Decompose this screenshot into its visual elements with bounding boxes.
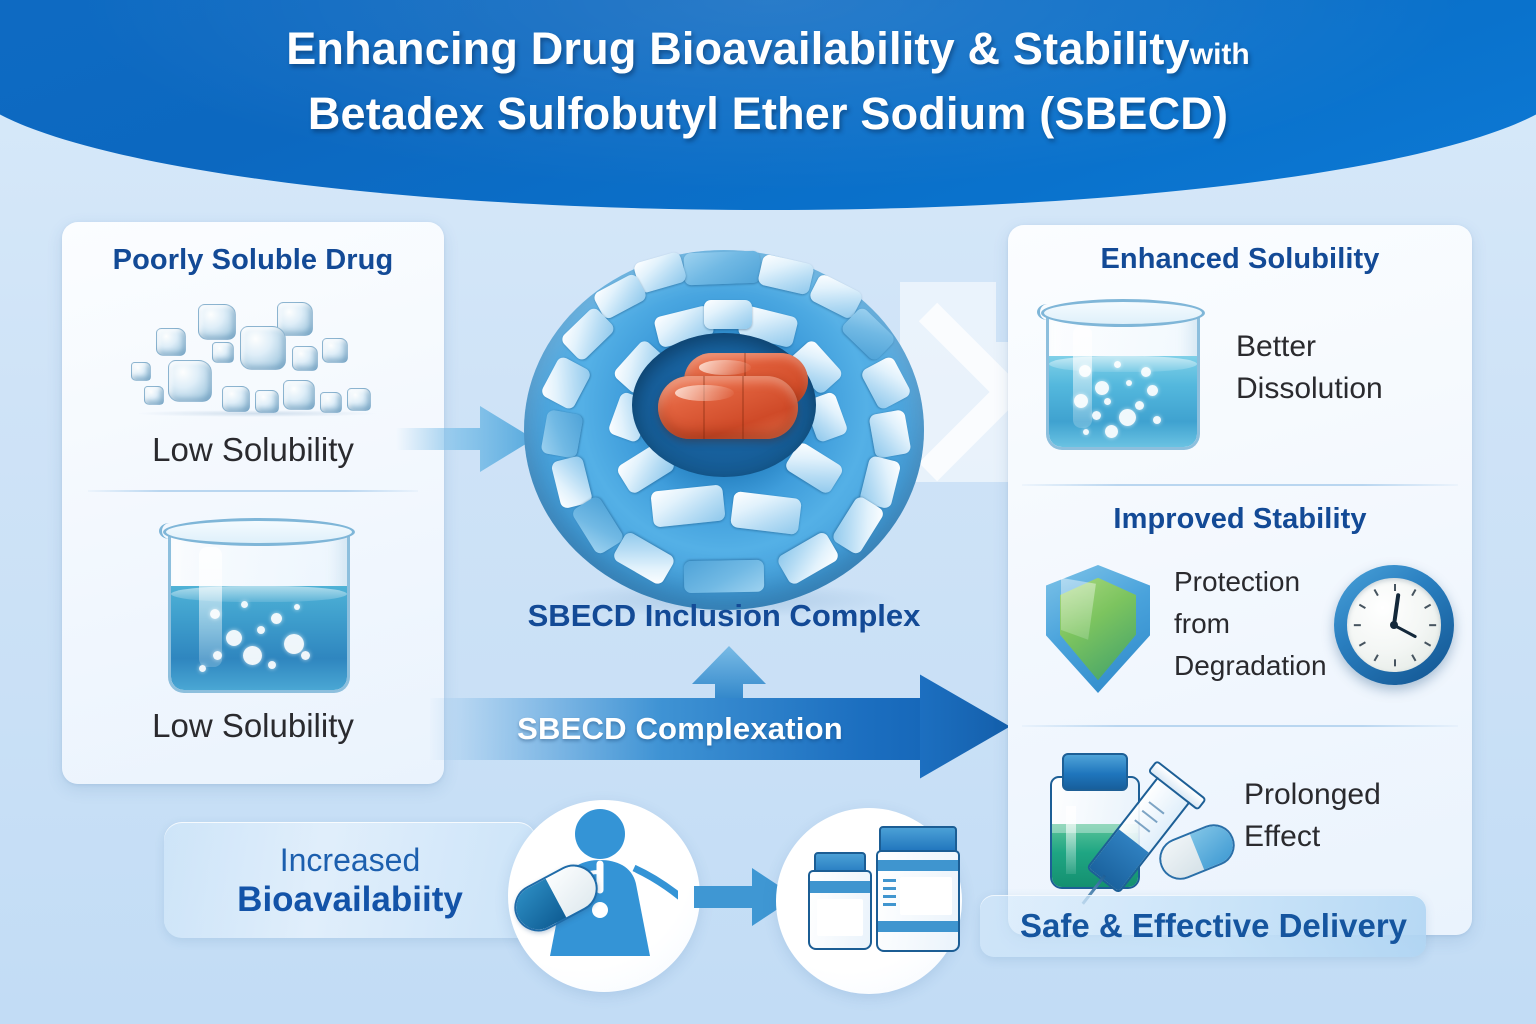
title-line1-main: Enhancing Drug Bioavailability & Stabili… bbox=[286, 23, 1190, 74]
small-vial-icon bbox=[808, 852, 868, 950]
left-to-center-arrow-icon bbox=[396, 396, 536, 482]
complex-label: SBECD Inclusion Complex bbox=[524, 598, 924, 634]
right-section2-title: Improved Stability bbox=[1008, 503, 1472, 536]
large-vial-icon bbox=[876, 826, 956, 952]
low-solubility-beaker-icon bbox=[168, 518, 344, 690]
prolonged-effect-caption-line2: Effect bbox=[1244, 819, 1320, 856]
right-divider-2 bbox=[1022, 725, 1458, 727]
title-line2: Betadex Sulfobutyl Ether Sodium (SBECD) bbox=[0, 87, 1536, 142]
delivery-label: Safe & Effective Delivery bbox=[980, 907, 1407, 945]
bioavailability-line1: Increased bbox=[164, 842, 536, 879]
page-title: Enhancing Drug Bioavailability & Stabili… bbox=[0, 22, 1536, 142]
safe-effective-delivery-banner: Safe & Effective Delivery bbox=[980, 895, 1426, 957]
left-panel-title: Poorly Soluble Drug bbox=[62, 244, 444, 277]
right-section1-title: Enhanced Solubility bbox=[1008, 243, 1472, 276]
capsule-front bbox=[658, 376, 798, 439]
title-line1-small: with bbox=[1190, 38, 1250, 71]
infographic-canvas: Enhancing Drug Bioavailability & Stabili… bbox=[0, 0, 1536, 1024]
shield-icon bbox=[1046, 565, 1150, 693]
enhanced-solubility-beaker-icon bbox=[1046, 299, 1194, 447]
increased-bioavailability-band: Increased Bioavailabiity bbox=[164, 822, 536, 938]
left-beaker-caption: Low Solubility bbox=[62, 706, 444, 746]
left-crystals-caption: Low Solubility bbox=[62, 430, 444, 470]
sbecd-inclusion-complex-icon bbox=[524, 250, 924, 610]
left-panel-divider bbox=[88, 490, 418, 492]
bioavailability-line2: Bioavailabiity bbox=[164, 880, 536, 920]
left-panel-card: Poorly Soluble Drug Low Solubility bbox=[62, 222, 444, 784]
drug-crystals-icon bbox=[94, 300, 412, 420]
better-dissolution-caption-line2: Dissolution bbox=[1236, 371, 1383, 408]
better-dissolution-caption-line1: Better bbox=[1236, 329, 1316, 366]
protection-caption-line2: from bbox=[1174, 607, 1230, 641]
protection-caption-line3: Degradation bbox=[1174, 649, 1327, 683]
right-panel-card: Enhanced Solubility bbox=[1008, 225, 1472, 935]
prolonged-effect-caption-line1: Prolonged bbox=[1244, 777, 1381, 814]
sbecd-complexation-arrow: SBECD Complexation bbox=[430, 698, 1010, 760]
sbecd-complexation-label: SBECD Complexation bbox=[430, 698, 930, 760]
protection-caption-line1: Protection bbox=[1174, 565, 1300, 599]
right-divider-1 bbox=[1022, 484, 1458, 486]
upward-arrow-icon bbox=[692, 646, 766, 702]
clock-icon bbox=[1334, 565, 1454, 685]
